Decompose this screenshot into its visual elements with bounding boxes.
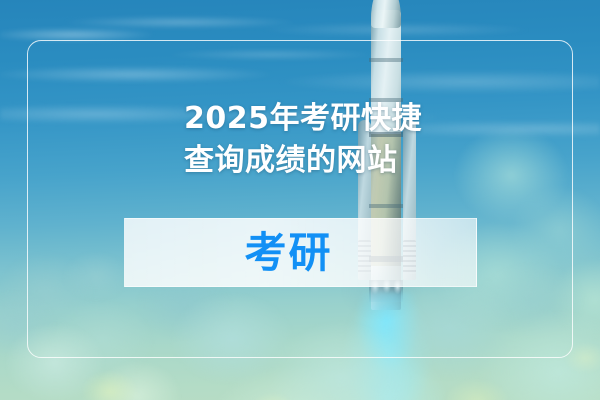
rocket-nose-cone-icon: [371, 0, 401, 28]
rocket-band-icon: [369, 58, 403, 62]
headline: 2025年考研快捷 查询成绩的网站: [184, 98, 444, 182]
headline-line-2: 查询成绩的网站: [184, 140, 444, 182]
cta-button-label: 考研: [244, 232, 332, 274]
headline-line-1: 2025年考研快捷: [184, 98, 444, 140]
cta-button[interactable]: 考研: [124, 218, 477, 287]
promo-banner: 2025年考研快捷 查询成绩的网站 考研: [0, 0, 600, 400]
